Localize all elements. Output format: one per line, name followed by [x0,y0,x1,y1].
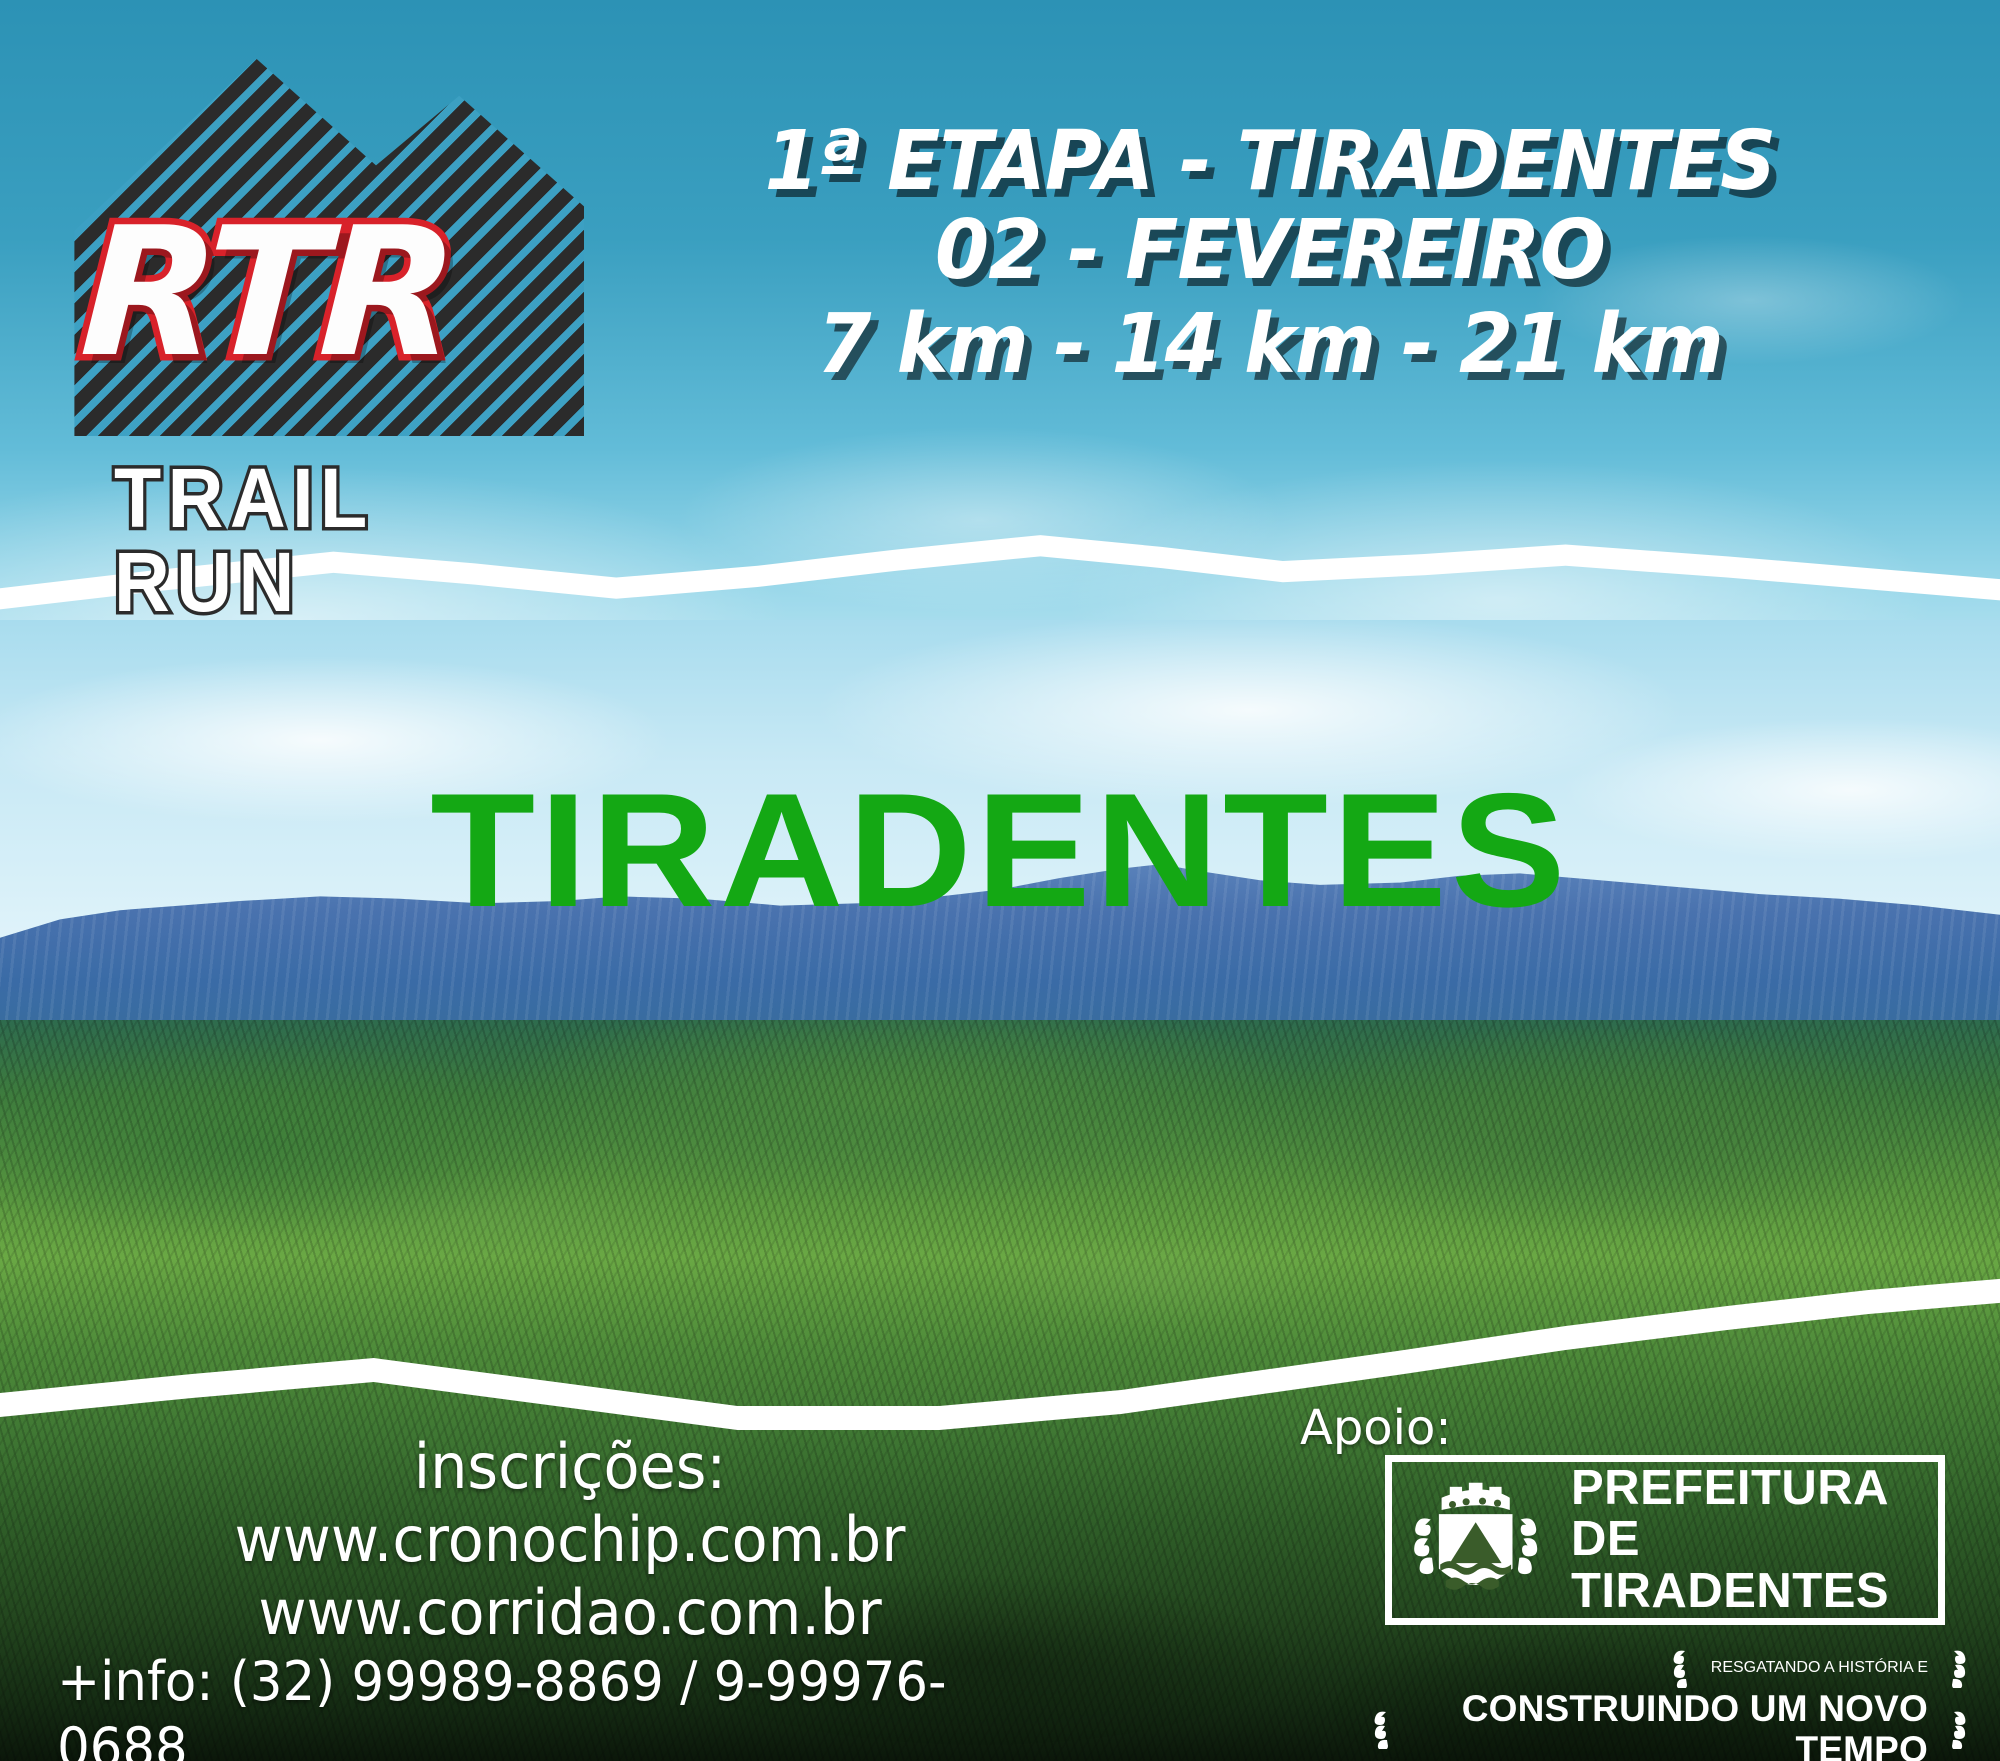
tagline-row-1: RESGATANDO A HISTÓRIA E [1370,1648,1970,1688]
leaf-scroll-icon [1936,1648,1970,1688]
prefeitura-name-line2: TIRADENTES [1571,1566,1938,1617]
registration-phone: +info: (32) 99989-8869 / 9-99976-0688 [40,1649,1047,1761]
event-stage-line: 1ª ETAPA - TIRADENTES [634,118,1907,207]
leaf-scroll-icon [1936,1709,1970,1749]
registration-site-2[interactable]: www.corridao.com.br [67,1576,1074,1649]
rtr-wordmark: RTR [77,204,586,382]
prefeitura-name-line1: PREFEITURA DE [1571,1463,1938,1566]
rtr-logo: RTR TRAIL RUN [64,26,584,526]
trail-run-label: TRAIL RUN [114,456,546,624]
leaf-scroll-icon [1370,1709,1404,1749]
prefeitura-name: PREFEITURA DE TIRADENTES [1571,1463,1938,1617]
tagline-line-2: CONSTRUINDO UM NOVO TEMPO [1412,1688,1928,1761]
event-date-line: 02 - FEVEREIRO [634,207,1907,296]
event-distance-line: 7 km - 14 km - 21 km [634,295,1907,395]
registration-label: inscrições: [67,1430,1074,1503]
leaf-scroll-icon [1669,1648,1703,1688]
tiradentes-coat-of-arms-icon [1400,1465,1565,1615]
event-poster: RTR TRAIL RUN 1ª ETAPA - TIRADENTES 02 -… [0,0,2000,1761]
event-header: 1ª ETAPA - TIRADENTES 02 - FEVEREIRO 7 k… [600,118,1940,395]
city-title: TIRADENTES [0,770,2000,932]
registration-block: inscrições: www.cronochip.com.br www.cor… [40,1430,1100,1761]
prefeitura-tagline: RESGATANDO A HISTÓRIA E CONSTRUINDO UM N… [1370,1648,1970,1761]
prefeitura-logo-box: PREFEITURA DE TIRADENTES [1385,1455,1945,1625]
tagline-line-1: RESGATANDO A HISTÓRIA E [1711,1659,1928,1677]
tagline-row-2: CONSTRUINDO UM NOVO TEMPO [1370,1688,1970,1761]
registration-site-1[interactable]: www.cronochip.com.br [67,1503,1074,1576]
apoio-label: Apoio: [1300,1400,1452,1456]
